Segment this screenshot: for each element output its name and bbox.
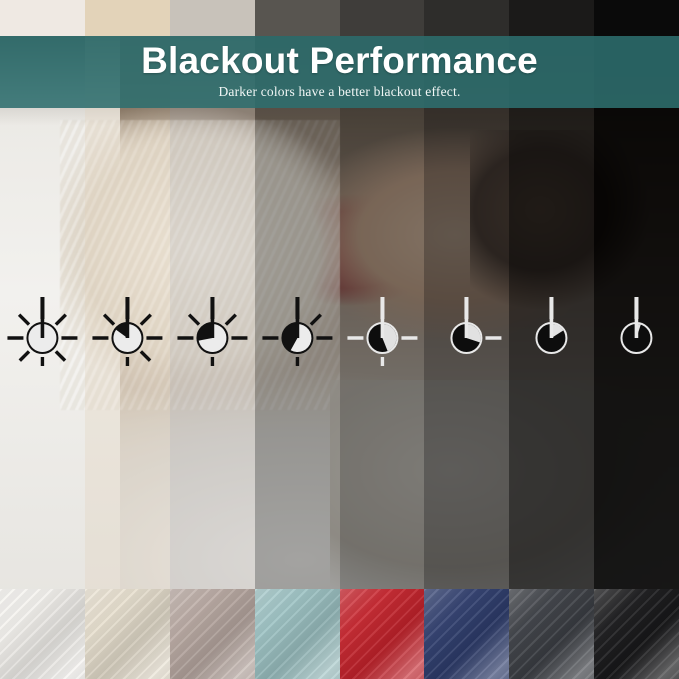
brightness-icon-dark-grey [255, 290, 340, 366]
swatch-fold-texture [0, 589, 85, 679]
brightness-icon-beige [85, 290, 170, 366]
page-subtitle: Darker colors have a better blackout eff… [0, 83, 679, 101]
fabric-swatch-black [594, 589, 679, 679]
swatch-fold-texture [255, 589, 340, 679]
fabric-swatch-near-black [509, 589, 594, 679]
brightness-icon-charcoal [340, 290, 425, 366]
top-strip-light-grey [170, 0, 255, 36]
page-title: Blackout Performance [0, 36, 679, 83]
swatch-fold-texture [170, 589, 255, 679]
fabric-swatch-white [0, 589, 85, 679]
top-strip-near-black [509, 0, 594, 36]
top-strip-charcoal [340, 0, 425, 36]
top-strip-black [594, 0, 679, 36]
brightness-icon-deep-grey [424, 290, 509, 366]
brightness-icon-black [594, 290, 679, 366]
swatch-fold-texture [509, 589, 594, 679]
top-strip-dark-grey [255, 0, 340, 36]
product-infographic: Blackout Performance Darker colors have … [0, 0, 679, 679]
fabric-swatch-light-grey [170, 589, 255, 679]
swatch-fold-texture [85, 589, 170, 679]
swatch-fold-texture [424, 589, 509, 679]
fabric-swatch-beige [85, 589, 170, 679]
fabric-swatch-deep-grey [424, 589, 509, 679]
top-strip-white [0, 0, 85, 36]
brightness-icon-row [0, 290, 679, 366]
fabric-swatch-dark-grey [255, 589, 340, 679]
top-strip-deep-grey [424, 0, 509, 36]
fabric-swatch-row [0, 589, 679, 679]
brightness-icon-light-grey [170, 290, 255, 366]
brightness-icon-white [0, 290, 85, 366]
swatch-fold-texture [340, 589, 425, 679]
header-banner: Blackout Performance Darker colors have … [0, 36, 679, 108]
swatch-fold-texture [594, 589, 679, 679]
fabric-swatch-charcoal [340, 589, 425, 679]
top-color-strip [0, 0, 679, 36]
top-strip-beige [85, 0, 170, 36]
brightness-icon-near-black [509, 290, 594, 366]
